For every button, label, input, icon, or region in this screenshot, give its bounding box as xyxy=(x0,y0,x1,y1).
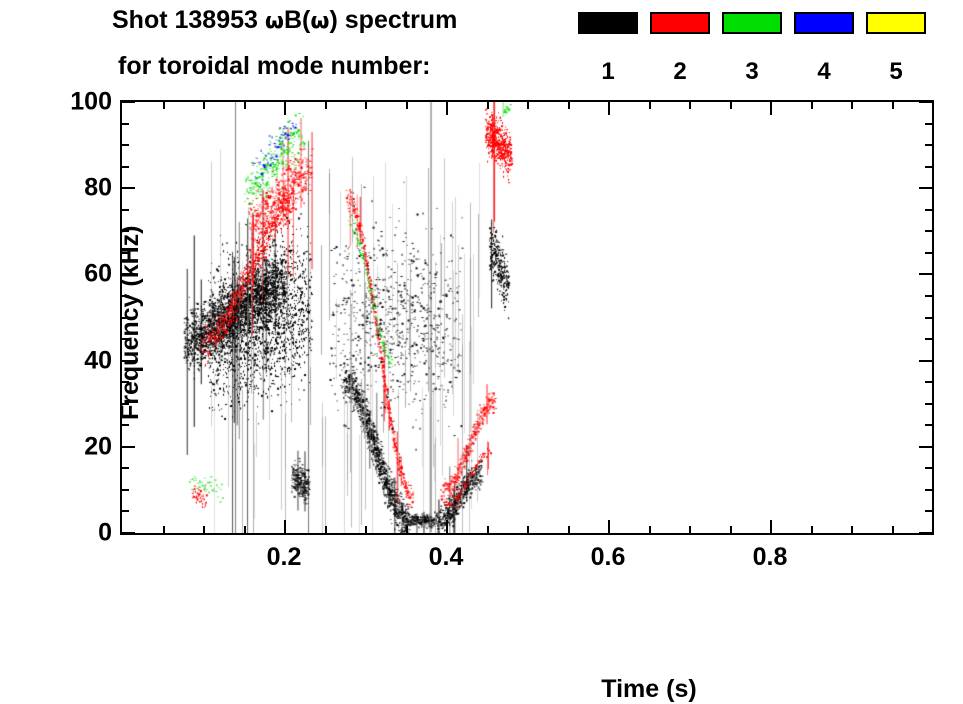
y-minor-tick xyxy=(925,230,932,232)
legend-label-n-equals-5: 5 xyxy=(866,58,926,86)
x-minor-tick xyxy=(811,526,813,533)
y-minor-tick xyxy=(122,144,129,146)
y-minor-tick xyxy=(122,510,129,512)
x-major-tick-bottom xyxy=(770,520,772,533)
y-minor-tick xyxy=(122,230,129,232)
y-minor-tick xyxy=(925,510,932,512)
title-spectrum-text: ) spectrum xyxy=(330,6,458,34)
y-minor-tick xyxy=(925,381,932,383)
x-major-tick-top xyxy=(284,102,286,115)
legend-swatch-n-equals-5 xyxy=(866,12,926,34)
y-minor-tick xyxy=(925,295,932,297)
x-major-tick-bottom xyxy=(608,520,610,533)
y-major-tick xyxy=(919,273,932,275)
y-major-tick xyxy=(919,360,932,362)
y-minor-tick xyxy=(925,123,932,125)
x-minor-tick xyxy=(527,526,529,533)
y-minor-tick xyxy=(122,403,129,405)
y-minor-tick xyxy=(925,467,932,469)
x-minor-tick xyxy=(892,102,894,109)
y-minor-tick xyxy=(122,424,129,426)
y-major-tick xyxy=(122,101,135,103)
y-minor-tick xyxy=(925,338,932,340)
y-minor-tick xyxy=(122,467,129,469)
x-minor-tick xyxy=(730,102,732,109)
legend-label-n-equals-1: 1 xyxy=(578,58,638,86)
legend-label-n-equals-2: 2 xyxy=(650,58,710,86)
x-major-tick-top xyxy=(446,102,448,115)
y-major-tick xyxy=(122,360,135,362)
x-minor-tick xyxy=(892,526,894,533)
plot-area: Frequency (kHz) Time (s) 0.20.40.60.8020… xyxy=(120,100,934,535)
y-minor-tick xyxy=(925,317,932,319)
title-subline: for toroidal mode number: xyxy=(118,52,431,81)
y-minor-tick xyxy=(122,166,129,168)
y-minor-tick xyxy=(122,489,129,491)
legend-swatch-n-equals-4 xyxy=(794,12,854,34)
y-minor-tick xyxy=(925,166,932,168)
y-minor-tick xyxy=(122,317,129,319)
x-minor-tick xyxy=(811,102,813,109)
y-axis-title: Frequency (kHz) xyxy=(116,226,145,420)
page-title: Shot 138953 ωB(ω) spectrum xyxy=(112,6,457,35)
y-major-tick xyxy=(919,187,932,189)
spectrogram-canvas xyxy=(122,102,932,533)
y-minor-tick xyxy=(122,252,129,254)
x-minor-tick xyxy=(649,526,651,533)
x-major-tick-bottom xyxy=(284,520,286,533)
x-minor-tick xyxy=(203,102,205,109)
y-major-tick xyxy=(122,273,135,275)
x-minor-tick xyxy=(851,526,853,533)
legend-swatch-n-equals-1 xyxy=(578,12,638,34)
x-tick-label: 0.4 xyxy=(429,543,464,572)
x-minor-tick xyxy=(487,526,489,533)
x-axis-title: Time (s) xyxy=(601,675,696,704)
x-minor-tick xyxy=(325,102,327,109)
y-tick-label: 40 xyxy=(84,346,112,375)
legend-label-n-equals-3: 3 xyxy=(722,58,782,86)
y-minor-tick xyxy=(122,338,129,340)
x-major-tick-top xyxy=(608,102,610,115)
x-tick-label: 0.8 xyxy=(753,543,788,572)
y-minor-tick xyxy=(122,123,129,125)
x-minor-tick xyxy=(365,102,367,109)
x-minor-tick xyxy=(244,526,246,533)
y-tick-label: 80 xyxy=(84,174,112,203)
x-minor-tick xyxy=(527,102,529,109)
title-shot-text: Shot 138953 xyxy=(112,6,265,34)
x-tick-label: 0.2 xyxy=(267,543,302,572)
x-minor-tick xyxy=(163,102,165,109)
x-minor-tick xyxy=(244,102,246,109)
y-minor-tick xyxy=(122,295,129,297)
x-minor-tick xyxy=(851,102,853,109)
y-major-tick xyxy=(122,187,135,189)
y-minor-tick xyxy=(925,252,932,254)
y-minor-tick xyxy=(925,424,932,426)
x-minor-tick xyxy=(406,526,408,533)
y-minor-tick xyxy=(925,489,932,491)
y-minor-tick xyxy=(122,209,129,211)
legend-label-n-equals-4: 4 xyxy=(794,58,854,86)
y-major-tick xyxy=(122,446,135,448)
x-minor-tick xyxy=(568,102,570,109)
legend-swatch-n-equals-2 xyxy=(650,12,710,34)
y-minor-tick xyxy=(925,209,932,211)
x-minor-tick xyxy=(730,526,732,533)
legend-swatch-n-equals-3 xyxy=(722,12,782,34)
omega-symbol-2: ω xyxy=(310,9,329,34)
title-b-text: B( xyxy=(284,6,310,34)
legend: 12345 xyxy=(578,12,948,90)
x-tick-label: 0.6 xyxy=(591,543,626,572)
x-major-tick-top xyxy=(770,102,772,115)
y-tick-label: 100 xyxy=(70,88,112,117)
x-minor-tick xyxy=(689,102,691,109)
y-tick-label: 60 xyxy=(84,260,112,289)
x-major-tick-bottom xyxy=(446,520,448,533)
y-minor-tick xyxy=(925,403,932,405)
y-major-tick xyxy=(919,101,932,103)
x-minor-tick xyxy=(406,102,408,109)
x-minor-tick xyxy=(203,526,205,533)
spectrogram-figure: Shot 138953 ωB(ω) spectrum for toroidal … xyxy=(0,0,963,615)
y-tick-label: 0 xyxy=(98,519,112,548)
x-minor-tick xyxy=(689,526,691,533)
x-minor-tick xyxy=(163,526,165,533)
omega-symbol-1: ω xyxy=(265,9,284,34)
y-minor-tick xyxy=(925,144,932,146)
y-major-tick xyxy=(919,446,932,448)
y-major-tick xyxy=(919,532,932,534)
x-minor-tick xyxy=(365,526,367,533)
x-minor-tick xyxy=(649,102,651,109)
x-minor-tick xyxy=(325,526,327,533)
y-tick-label: 20 xyxy=(84,432,112,461)
y-major-tick xyxy=(122,532,135,534)
y-minor-tick xyxy=(122,381,129,383)
x-minor-tick xyxy=(487,102,489,109)
x-minor-tick xyxy=(568,526,570,533)
